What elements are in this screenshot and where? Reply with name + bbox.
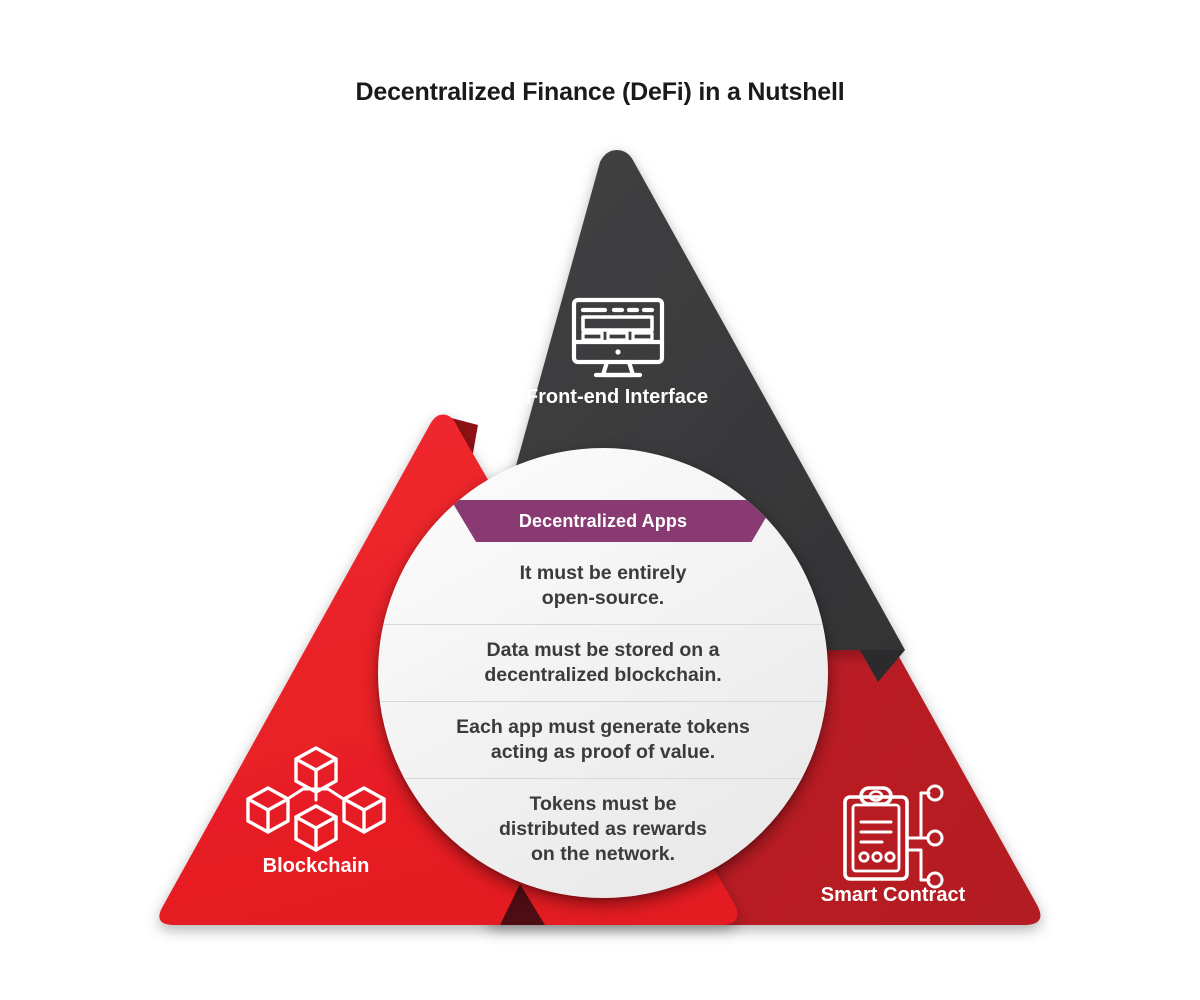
decentralized-apps-circle[interactable]: Decentralized Apps It must be entirely o…	[378, 448, 828, 898]
bullet-line: open-source.	[396, 586, 810, 611]
bullet-line: It must be entirely	[396, 561, 810, 586]
blockchain-label: Blockchain	[263, 855, 370, 878]
smart-contract-label: Smart Contract	[821, 884, 965, 907]
bullet-line: distributed as rewards	[396, 817, 810, 842]
list-item: Tokens must be distributed as rewards on…	[378, 778, 828, 880]
infographic-canvas: Decentralized Finance (DeFi) in a Nutshe…	[0, 0, 1200, 1000]
bullet-line: Data must be stored on a	[396, 638, 810, 663]
bullet-line: decentralized blockchain.	[396, 663, 810, 688]
list-item: Each app must generate tokens acting as …	[378, 701, 828, 778]
bullet-line: acting as proof of value.	[396, 740, 810, 765]
frontend-label: Front-end Interface	[526, 386, 708, 409]
bullet-line: Tokens must be	[396, 792, 810, 817]
list-item: Data must be stored on a decentralized b…	[378, 624, 828, 701]
bullet-line: Each app must generate tokens	[396, 715, 810, 740]
bullet-line: on the network.	[396, 842, 810, 867]
decentralized-apps-banner-label: Decentralized Apps	[519, 511, 687, 532]
decentralized-apps-bullet-list: It must be entirely open-source. Data mu…	[378, 548, 828, 880]
list-item: It must be entirely open-source.	[378, 548, 828, 624]
